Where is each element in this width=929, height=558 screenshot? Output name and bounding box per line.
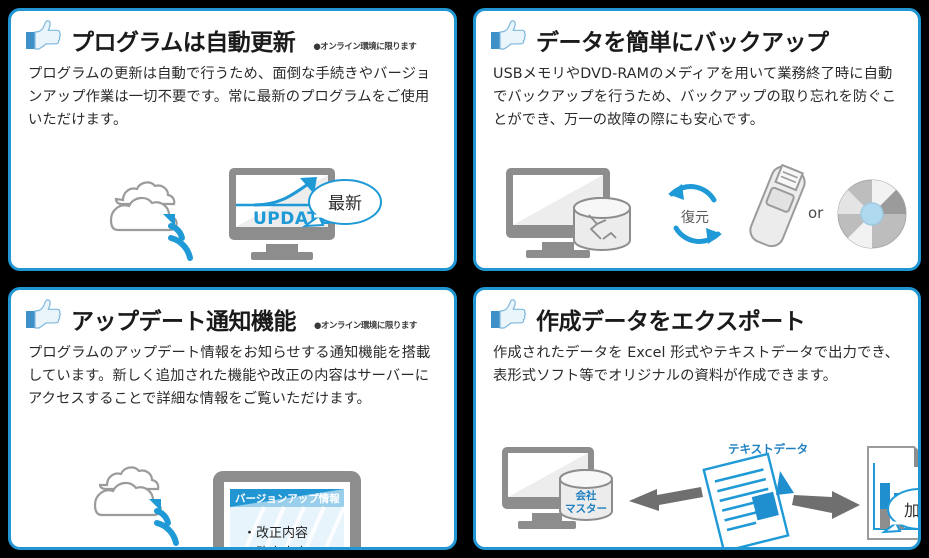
card-header: アップデート通知機能 ●オンライン環境に限ります (11, 290, 454, 334)
bubble-latest-label: 最新 (328, 194, 362, 214)
card-title: プログラムは自動更新 (71, 32, 295, 55)
card-title: 作成データをエクスポート (536, 311, 805, 334)
card-body-text: プログラムの更新は自動で行うため、面倒な手続きやバージョンアップ作業は一切不要で… (11, 55, 454, 132)
cell-update-notification: アップデート通知機能 ●オンライン環境に限ります プログラムのアップデート情報を… (0, 279, 465, 558)
card-update-notification: アップデート通知機能 ●オンライン環境に限ります プログラムのアップデート情報を… (8, 287, 457, 550)
or-label: or (808, 204, 824, 222)
card-export-data: 作成データをエクスポート 作成されたデータを Excel 形式やテキストデータで… (473, 287, 921, 550)
thumbs-up-icon (490, 298, 528, 332)
tablet-item-1: ・改良内容 etc... (243, 545, 345, 547)
chart-process-label: 加工 (904, 501, 921, 520)
db-label-line1: 会社 (576, 489, 597, 502)
restore-label: 復元 (681, 209, 709, 226)
card-body-text: プログラムのアップデート情報をお知らせする通知機能を搭載しています。新しく追加さ… (11, 334, 454, 411)
cloud-wifi-monitor-update-illustration: UPDATE 最新 (11, 158, 454, 268)
card-title: アップデート通知機能 (71, 311, 296, 334)
thumbs-up-icon (25, 19, 63, 53)
card-body-text: 作成されたデータを Excel 形式やテキストデータで出力でき、表形式ソフト等で… (476, 334, 918, 388)
card-auto-update: プログラムは自動更新 ●オンライン環境に限ります プログラムの更新は自動で行うた… (8, 8, 457, 271)
thumbs-up-icon (25, 298, 63, 332)
thumbs-up-icon (490, 19, 528, 53)
feature-card-grid: プログラムは自動更新 ●オンライン環境に限ります プログラムの更新は自動で行うた… (0, 0, 929, 558)
card-header: 作成データをエクスポート (476, 290, 918, 334)
card-note: ●オンライン環境に限ります (314, 319, 417, 334)
cell-auto-update: プログラムは自動更新 ●オンライン環境に限ります プログラムの更新は自動で行うた… (0, 0, 465, 279)
cloud-wifi-tablet-notification-illustration: バージョンアップ情報 ・改正内容 ・改良内容 etc... (11, 465, 454, 547)
card-easy-backup: データを簡単にバックアップ USBメモリやDVD-RAMのメディアを用いて業務終… (473, 8, 921, 271)
cell-easy-backup: データを簡単にバックアップ USBメモリやDVD-RAMのメディアを用いて業務終… (465, 0, 929, 279)
database-document-chart-export-illustration: 会社 マスター テキストデータ (476, 435, 918, 547)
card-header: プログラムは自動更新 ●オンライン環境に限ります (11, 11, 454, 55)
db-label-line2: マスター (565, 503, 607, 515)
tablet-item-0: ・改正内容 (243, 525, 308, 541)
monitor-database-usb-dvd-illustration: 復元 or (476, 160, 918, 268)
card-header: データを簡単にバックアップ (476, 11, 918, 55)
card-note: ●オンライン環境に限ります (313, 40, 416, 55)
cell-export-data: 作成データをエクスポート 作成されたデータを Excel 形式やテキストデータで… (465, 279, 929, 558)
card-title: データを簡単にバックアップ (536, 32, 829, 55)
card-body-text: USBメモリやDVD-RAMのメディアを用いて業務終了時に自動でバックアップを行… (476, 55, 918, 132)
